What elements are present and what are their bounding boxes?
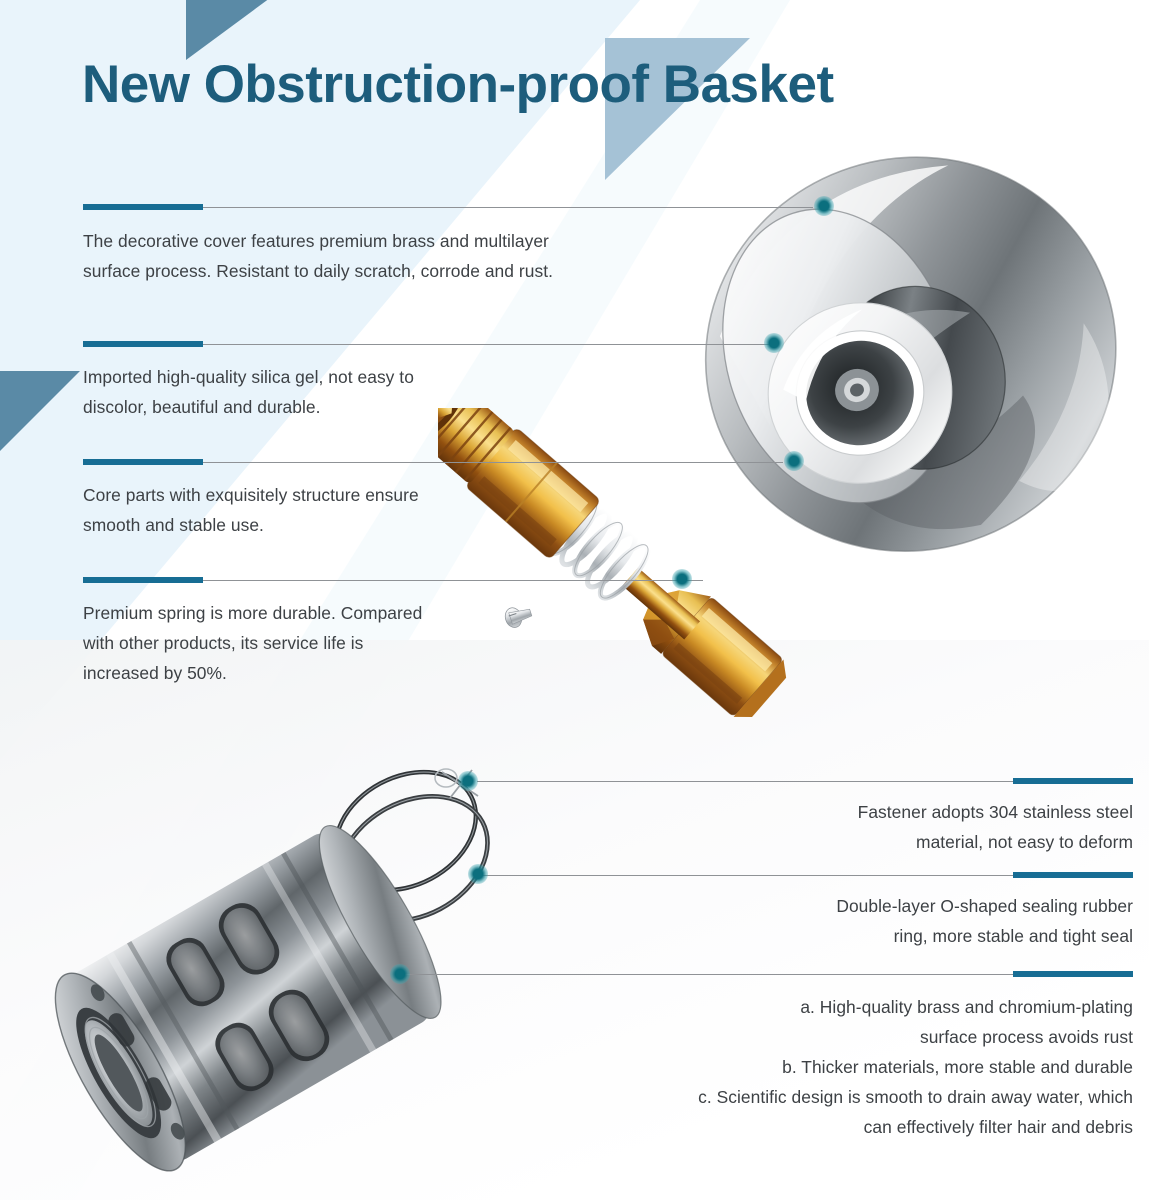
infographic-page: New Obstruction-proof Basket The decorat… xyxy=(0,0,1149,1200)
accent-bar-5 xyxy=(1013,778,1133,784)
page-title: New Obstruction-proof Basket xyxy=(82,56,1062,113)
callout-line: can effectively filter hair and debris xyxy=(493,1112,1133,1142)
callout-line: surface process avoids rust xyxy=(493,1022,1133,1052)
deco-triangle-left-edge xyxy=(0,371,80,453)
callout-text-1: The decorative cover features premium br… xyxy=(83,226,683,286)
callout-line: with other products, its service life is xyxy=(83,628,643,658)
callout-text-3: Core parts with exquisitely structure en… xyxy=(83,480,643,540)
callout-line: smooth and stable use. xyxy=(83,510,643,540)
accent-bar-7 xyxy=(1013,971,1133,977)
callout-line: discolor, beautiful and durable. xyxy=(83,392,643,422)
callout-text-2: Imported high-quality silica gel, not ea… xyxy=(83,362,643,422)
callout-line: Imported high-quality silica gel, not ea… xyxy=(83,362,643,392)
callout-text-5: Fastener adopts 304 stainless steel mate… xyxy=(573,797,1133,857)
callout-text-7: a. High-quality brass and chromium-plati… xyxy=(493,992,1133,1142)
callout-line: increased by 50%. xyxy=(83,658,643,688)
callout-line: Premium spring is more durable. Compared xyxy=(83,598,643,628)
accent-bar-6 xyxy=(1013,872,1133,878)
callout-line: surface process. Resistant to daily scra… xyxy=(83,256,683,286)
callout-line: The decorative cover features premium br… xyxy=(83,226,683,256)
callout-line: b. Thicker materials, more stable and du… xyxy=(493,1052,1133,1082)
callout-line: material, not easy to deform xyxy=(573,827,1133,857)
callout-dot-fastener xyxy=(458,771,478,791)
callout-text-6: Double-layer O-shaped sealing rubber rin… xyxy=(573,891,1133,951)
accent-bar-1 xyxy=(83,204,203,210)
callout-dot-silica-gel xyxy=(764,333,784,353)
callout-line: Core parts with exquisitely structure en… xyxy=(83,480,643,510)
callout-line: ring, more stable and tight seal xyxy=(573,921,1133,951)
callout-dot-spring xyxy=(672,569,692,589)
callout-text-4: Premium spring is more durable. Compared… xyxy=(83,598,643,688)
callout-dot-decorative-cover xyxy=(814,196,834,216)
accent-bar-3 xyxy=(83,459,203,465)
callout-line: Fastener adopts 304 stainless steel xyxy=(573,797,1133,827)
accent-bar-2 xyxy=(83,341,203,347)
callout-line: Double-layer O-shaped sealing rubber xyxy=(573,891,1133,921)
accent-bar-4 xyxy=(83,577,203,583)
callout-line: a. High-quality brass and chromium-plati… xyxy=(493,992,1133,1022)
deco-triangle-top-dark xyxy=(186,0,270,60)
callout-dot-basket-body xyxy=(390,964,410,984)
callout-dot-sealing-ring xyxy=(468,864,488,884)
callout-dot-core-parts xyxy=(784,451,804,471)
callout-line: c. Scientific design is smooth to drain … xyxy=(493,1082,1133,1112)
